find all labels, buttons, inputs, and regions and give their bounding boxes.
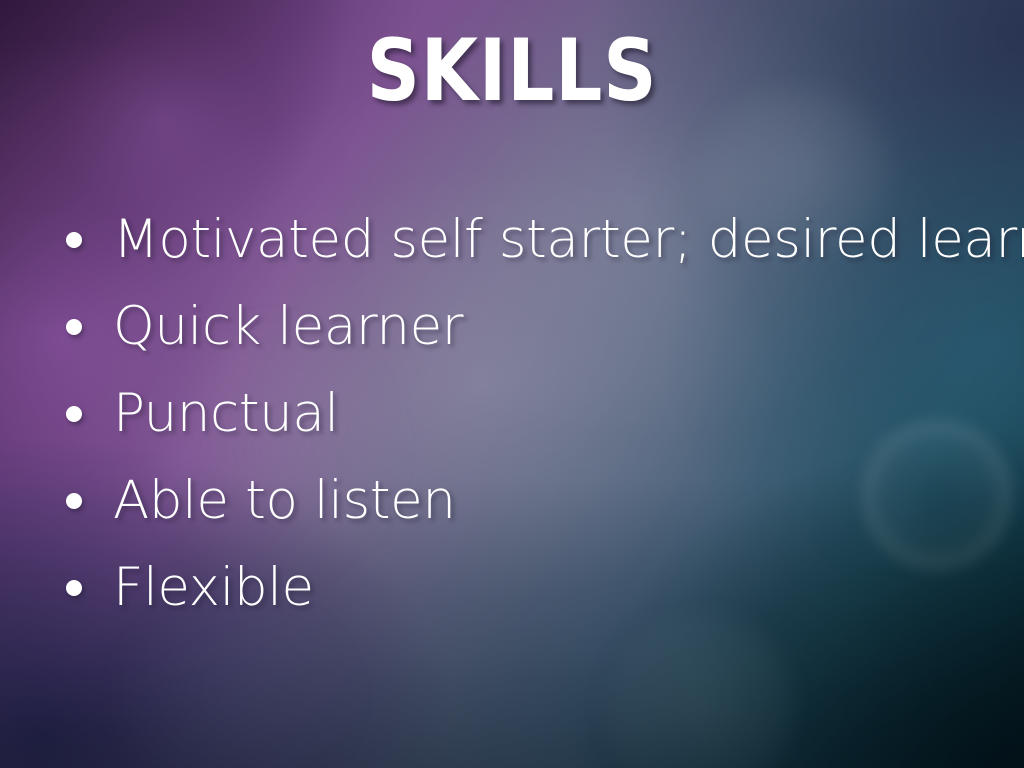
skills-bullet-list: Motivated self starter; desired learner … (0, 196, 1024, 631)
slide-content: SKILLS Motivated self starter; desired l… (0, 0, 1024, 768)
slide-title: SKILLS (72, 26, 953, 116)
list-item-label: Able to listen (113, 473, 456, 529)
presentation-slide: SKILLS Motivated self starter; desired l… (0, 0, 1024, 768)
list-item: Flexible (0, 544, 1024, 631)
list-item-label: Punctual (113, 386, 339, 442)
bullet-dot-icon (66, 580, 82, 596)
list-item: Punctual (0, 370, 1024, 457)
list-item-label: Motivated self starter; desired learner (113, 212, 1024, 268)
list-item-label: Quick learner (113, 299, 463, 355)
bullet-dot-icon (66, 406, 82, 422)
list-item: Motivated self starter; desired learner (0, 196, 1024, 283)
bullet-dot-icon (66, 493, 82, 509)
list-item-label: Flexible (113, 560, 314, 616)
bullet-dot-icon (66, 232, 82, 248)
list-item: Able to listen (0, 457, 1024, 544)
list-item: Quick learner (0, 283, 1024, 370)
bullet-dot-icon (66, 319, 82, 335)
